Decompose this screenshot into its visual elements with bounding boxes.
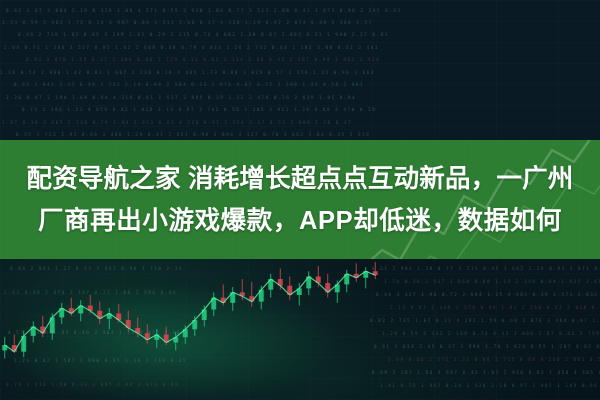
candlestick-chart [0, 252, 380, 400]
headline-line-1: 配资导航之家 消耗增长超点点互动新品，一广州 [14, 158, 586, 200]
screenshot-canvas: 0.82 1.47 3 064 2.19 0 318 1.06 4 271 0.… [0, 0, 600, 400]
candlestick-series [2, 262, 377, 358]
headline-text-block: 配资导航之家 消耗增长超点点互动新品，一广州 厂商再出小游戏爆款，APP却低迷，… [0, 140, 600, 259]
headline-banner: 配资导航之家 消耗增长超点点互动新品，一广州 厂商再出小游戏爆款，APP却低迷，… [0, 140, 600, 259]
headline-line-2: 厂商再出小游戏爆款，APP却低迷，数据如何 [14, 200, 586, 242]
